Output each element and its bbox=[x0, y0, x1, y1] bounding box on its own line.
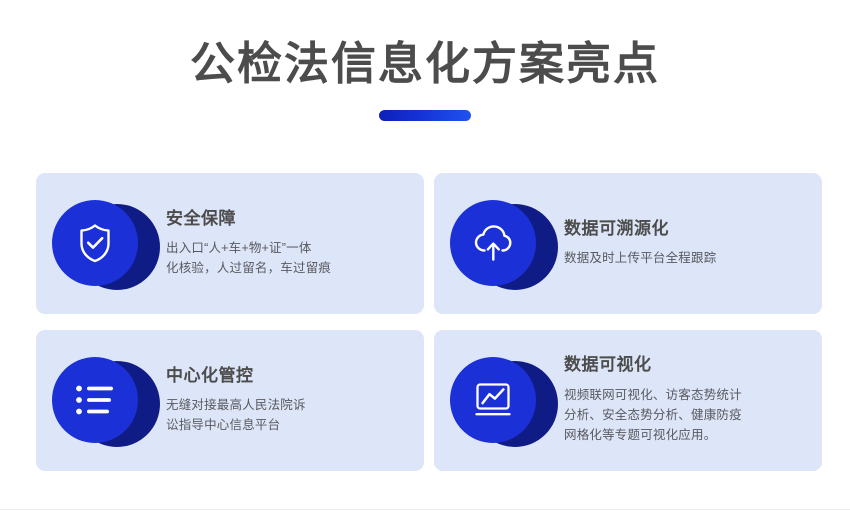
feature-card-grid: 安全保障 出入口“人+车+物+证”一体 化核验，人过留名，车过留痕 bbox=[36, 173, 822, 471]
card-description: 无缝对接最高人民法院诉 讼指导中心信息平台 bbox=[166, 395, 371, 436]
card-text: 数据可溯源化 数据及时上传平台全程跟踪 bbox=[548, 219, 806, 269]
bottom-divider bbox=[0, 509, 850, 510]
card-description-line: 视频联网可视化、访客态势统计 bbox=[564, 385, 776, 405]
title-accent-bar bbox=[379, 110, 471, 121]
feature-card-data-visualization[interactable]: 数据可视化 视频联网可视化、访客态势统计 分析、安全态势分析、健康防疫 网格化等… bbox=[434, 330, 822, 471]
chart-monitor-icon bbox=[450, 357, 536, 443]
shield-check-icon bbox=[52, 200, 138, 286]
card-description-line: 数据及时上传平台全程跟踪 bbox=[564, 248, 794, 268]
feature-card-centralized-control[interactable]: 中心化管控 无缝对接最高人民法院诉 讼指导中心信息平台 bbox=[36, 330, 424, 471]
icon-badge bbox=[52, 200, 150, 288]
card-description-line: 化核验，人过留名，车过留痕 bbox=[166, 258, 371, 278]
page-header: 公检法信息化方案亮点 bbox=[0, 0, 850, 121]
feature-card-security[interactable]: 安全保障 出入口“人+车+物+证”一体 化核验，人过留名，车过留痕 bbox=[36, 173, 424, 314]
card-title: 中心化管控 bbox=[166, 366, 404, 386]
icon-badge bbox=[450, 357, 548, 445]
card-description-line: 网格化等专题可视化应用。 bbox=[564, 425, 776, 445]
page-title: 公检法信息化方案亮点 bbox=[0, 38, 850, 90]
card-description: 出入口“人+车+物+证”一体 化核验，人过留名，车过留痕 bbox=[166, 238, 371, 279]
bullet-list-icon bbox=[52, 357, 138, 443]
card-title: 数据可溯源化 bbox=[564, 219, 802, 239]
card-title: 数据可视化 bbox=[564, 355, 802, 375]
card-description-line: 出入口“人+车+物+证”一体 bbox=[166, 238, 371, 258]
card-description: 视频联网可视化、访客态势统计 分析、安全态势分析、健康防疫 网格化等专题可视化应… bbox=[564, 385, 776, 446]
icon-badge bbox=[52, 357, 150, 445]
icon-badge bbox=[450, 200, 548, 288]
card-text: 中心化管控 无缝对接最高人民法院诉 讼指导中心信息平台 bbox=[150, 366, 408, 436]
card-text: 安全保障 出入口“人+车+物+证”一体 化核验，人过留名，车过留痕 bbox=[150, 209, 408, 279]
card-title: 安全保障 bbox=[166, 209, 404, 229]
page-root: 公检法信息化方案亮点 安全保障 出入口“人+车+物+证”一体 化核验，人过留名，… bbox=[0, 0, 850, 516]
feature-card-data-traceability[interactable]: 数据可溯源化 数据及时上传平台全程跟踪 bbox=[434, 173, 822, 314]
card-description: 数据及时上传平台全程跟踪 bbox=[564, 248, 794, 268]
card-description-line: 无缝对接最高人民法院诉 bbox=[166, 395, 371, 415]
card-text: 数据可视化 视频联网可视化、访客态势统计 分析、安全态势分析、健康防疫 网格化等… bbox=[548, 355, 806, 445]
cloud-upload-icon bbox=[450, 200, 536, 286]
card-description-line: 分析、安全态势分析、健康防疫 bbox=[564, 405, 776, 425]
card-description-line: 讼指导中心信息平台 bbox=[166, 415, 371, 435]
